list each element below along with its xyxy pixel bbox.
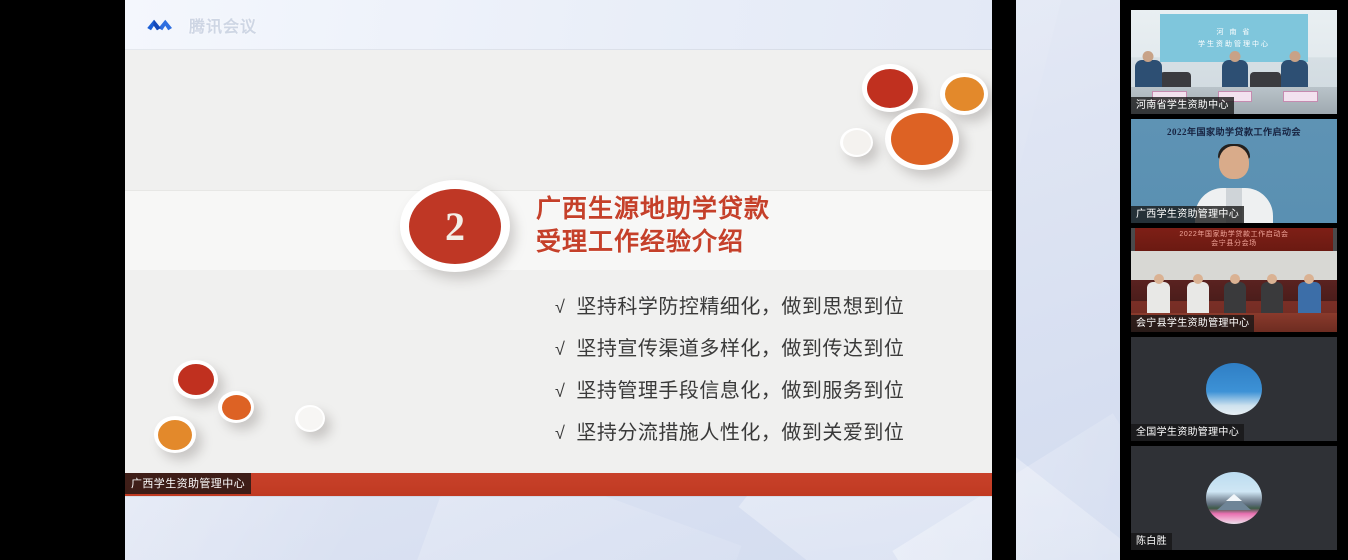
person bbox=[1222, 60, 1249, 87]
participant-name: 广西学生资助管理中心 bbox=[1131, 206, 1244, 223]
participant-thumbnail-active-speaker[interactable]: 2022年国家助学贷款工作启动会 广西学生资助管理中心 bbox=[1131, 119, 1337, 223]
room-banner-line2: 学生资助管理中心 bbox=[1198, 39, 1270, 49]
bullet-item: √ 坚持宣传渠道多样化，做到传达到位 bbox=[555, 332, 904, 361]
bullet-text: 坚持宣传渠道多样化，做到传达到位 bbox=[576, 332, 904, 361]
name-plate bbox=[1283, 91, 1318, 101]
check-icon: √ bbox=[555, 297, 565, 318]
participant-name: 陈白胜 bbox=[1131, 533, 1172, 550]
avatar bbox=[1206, 472, 1262, 524]
person bbox=[1298, 282, 1321, 313]
check-icon: √ bbox=[555, 339, 565, 360]
bullet-item: √ 坚持分流措施人性化，做到关爱到位 bbox=[555, 416, 904, 445]
decor-circle-orange bbox=[154, 416, 196, 453]
bullet-text: 坚持科学防控精细化，做到思想到位 bbox=[576, 290, 904, 319]
person bbox=[1224, 282, 1247, 313]
tencent-meeting-logo-icon bbox=[145, 15, 181, 35]
slide-title-line1: 广西生源地助学贷款 bbox=[536, 193, 770, 226]
person bbox=[1281, 60, 1308, 87]
room-banner-line1: 河 南 省 bbox=[1217, 27, 1252, 37]
bullet-text: 坚持分流措施人性化，做到关爱到位 bbox=[576, 416, 904, 445]
bullet-item: √ 坚持管理手段信息化，做到服务到位 bbox=[555, 374, 904, 403]
participant-name: 河南省学生资助中心 bbox=[1131, 97, 1234, 114]
decor-circle-dark-red bbox=[862, 64, 918, 112]
participant-thumbnail[interactable]: 全国学生资助管理中心 bbox=[1131, 337, 1337, 441]
room-banner-line2: 会宁县分会场 bbox=[1211, 239, 1257, 248]
participant-thumbnail[interactable]: 2022年国家助学贷款工作启动会 会宁县分会场 会宁县学生资助管理中心 bbox=[1131, 228, 1337, 332]
decor-circle-white bbox=[840, 128, 873, 157]
participant-thumbnail[interactable]: 陈白胜 bbox=[1131, 446, 1337, 550]
slide-title: 广西生源地助学贷款 受理工作经验介绍 bbox=[536, 193, 770, 260]
person-head bbox=[1219, 146, 1249, 179]
slide-title-row: 2 广西生源地助学贷款 受理工作经验介绍 bbox=[400, 180, 770, 272]
decor-circle-orange-red bbox=[218, 391, 254, 423]
check-icon: √ bbox=[555, 423, 565, 444]
shared-screen[interactable]: 2 广西生源地助学贷款 受理工作经验介绍 √ 坚持科学防控精细化，做到思想到位 … bbox=[125, 50, 992, 496]
person bbox=[1147, 282, 1170, 313]
meeting-window: 腾讯会议 bbox=[0, 0, 1348, 560]
slide-bullet-list: √ 坚持科学防控精细化，做到思想到位 √ 坚持宣传渠道多样化，做到传达到位 √ … bbox=[555, 290, 904, 445]
decor-circle-white bbox=[295, 405, 325, 432]
brand-name: 腾讯会议 bbox=[189, 13, 257, 37]
section-number-badge: 2 bbox=[400, 180, 510, 272]
decor-circle-orange-red-large bbox=[885, 108, 959, 170]
slide-title-line2: 受理工作经验介绍 bbox=[536, 226, 770, 259]
person bbox=[1187, 282, 1210, 313]
slide-top-area bbox=[125, 50, 992, 190]
participant-name: 全国学生资助管理中心 bbox=[1131, 424, 1244, 441]
participants-rail[interactable]: 河 南 省 学生资助管理中心 河南省学生资助中心 2022年国家助学贷款工作启动… bbox=[1120, 0, 1348, 560]
check-icon: √ bbox=[555, 381, 565, 402]
bullet-item: √ 坚持科学防控精细化，做到思想到位 bbox=[555, 290, 904, 319]
room-banner-line1: 2022年国家助学贷款工作启动会 bbox=[1179, 230, 1288, 239]
slide-footer-stripe bbox=[125, 473, 992, 496]
room-banner-line1: 2022年国家助学贷款工作启动会 bbox=[1131, 125, 1337, 138]
participant-name: 会宁县学生资助管理中心 bbox=[1131, 315, 1254, 332]
section-number: 2 bbox=[409, 189, 501, 264]
presenter-name-tag: 广西学生资助管理中心 bbox=[125, 473, 251, 494]
avatar bbox=[1206, 363, 1262, 415]
decor-circle-orange bbox=[940, 73, 988, 115]
letterbox-left bbox=[0, 0, 125, 560]
participant-thumbnail[interactable]: 河 南 省 学生资助管理中心 河南省学生资助中心 bbox=[1131, 10, 1337, 114]
person bbox=[1135, 60, 1162, 87]
decor-circle-dark-red bbox=[173, 360, 218, 399]
app-header: 腾讯会议 bbox=[125, 0, 992, 50]
room-banner: 2022年国家助学贷款工作启动会 会宁县分会场 bbox=[1135, 228, 1333, 251]
bullet-text: 坚持管理手段信息化，做到服务到位 bbox=[576, 374, 904, 403]
brand: 腾讯会议 bbox=[145, 13, 257, 37]
person bbox=[1261, 282, 1284, 313]
letterbox-gap bbox=[992, 0, 1016, 560]
